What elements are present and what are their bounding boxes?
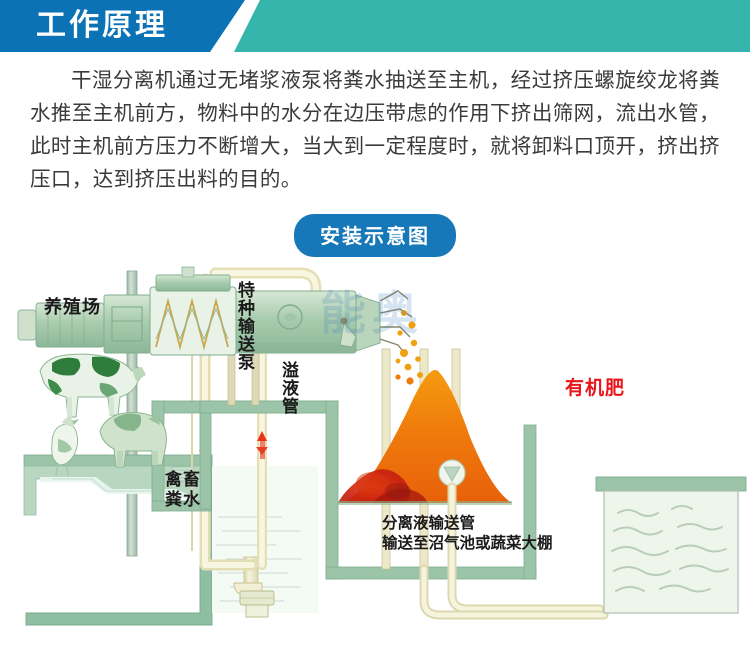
chicken-icon bbox=[52, 418, 79, 475]
working-principle-paragraph: 干湿分离机通过无堵浆液泵将粪水抽送至主机，经过挤压螺旋绞龙将粪水推至主机前方，物… bbox=[30, 64, 720, 196]
page-header: 工作原理 bbox=[0, 0, 750, 52]
label-special-pump: 特种输送泵 bbox=[232, 281, 257, 371]
label-overflow-pipe: 溢液管 bbox=[276, 361, 301, 415]
label-separated-liquid-line2: 输送至沼气池或蔬菜大棚 bbox=[382, 534, 553, 552]
label-separated-liquid: 分离液输送管输送至沼气池或蔬菜大棚 bbox=[382, 513, 553, 553]
label-organic-fertilizer: 有机肥 bbox=[565, 373, 625, 400]
label-farm: 养殖场 bbox=[44, 293, 101, 319]
cow-icon bbox=[40, 354, 146, 417]
label-manure-water: 禽畜粪水 bbox=[165, 470, 203, 510]
header-teal-band bbox=[234, 0, 750, 52]
farm-animals-illustration bbox=[22, 323, 192, 483]
pig-icon bbox=[100, 413, 166, 467]
label-separated-liquid-line1: 分离液输送管 bbox=[382, 514, 475, 532]
badge-row: 安装示意图 bbox=[0, 214, 750, 257]
installation-diagram-badge: 安装示意图 bbox=[294, 214, 456, 257]
page-title: 工作原理 bbox=[36, 5, 168, 47]
installation-schematic: 能奥 养殖场 特种输送泵 溢液管 禽畜粪水 分离液输送管输送至沼气池或蔬菜大棚 … bbox=[0, 265, 750, 645]
